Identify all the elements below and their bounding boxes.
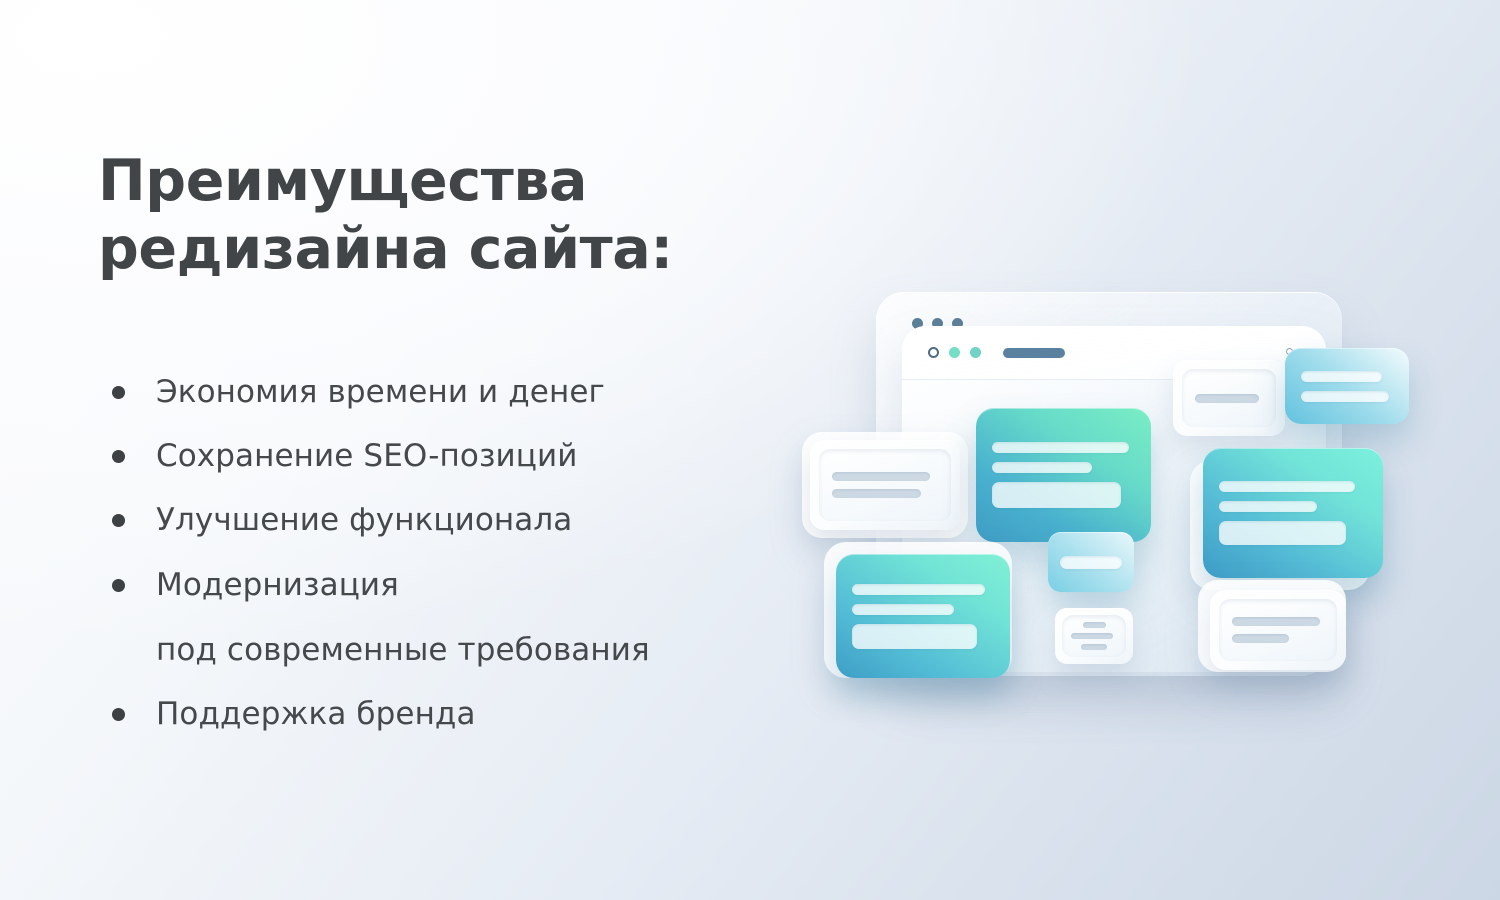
list-item-label: Экономия времени и денег — [156, 372, 605, 413]
card-bar — [992, 482, 1121, 508]
address-bar-pill — [1003, 348, 1065, 358]
headline-line-1: Преимущества — [98, 148, 798, 216]
card-top-white-body — [1182, 369, 1276, 427]
list-item: Сохранение SEO-позиций — [112, 436, 892, 477]
card-bottom-left-teal — [836, 554, 1010, 678]
card-main-teal — [976, 408, 1151, 542]
card-bar — [1081, 644, 1108, 650]
website-redesign-illustration — [790, 270, 1430, 700]
card-bottom-center-white-body — [1062, 615, 1126, 657]
card-bar — [1195, 394, 1259, 403]
list-item-label: Поддержка бренда — [156, 694, 476, 735]
card-bar — [1232, 634, 1289, 643]
card-bar — [1060, 556, 1122, 569]
card-bar — [852, 584, 985, 595]
mint-dot-icon — [949, 347, 960, 358]
circle-outline-icon — [928, 347, 939, 358]
card-bar — [1301, 391, 1389, 402]
list-item-label: Модернизация под современные требования — [156, 565, 650, 671]
bullet-dot-icon — [112, 708, 125, 721]
card-bar — [1219, 501, 1317, 512]
page-title: Преимущества редизайна сайта: — [98, 148, 798, 284]
card-bar — [1071, 633, 1113, 639]
list-item-label-line-1: Модернизация — [156, 567, 399, 603]
card-bottom-right-white — [1210, 590, 1346, 670]
card-bar — [1219, 481, 1355, 492]
card-center-blue-small — [1048, 532, 1134, 592]
card-bar — [832, 472, 930, 481]
card-bar — [832, 489, 921, 498]
bullet-dot-icon — [112, 386, 125, 399]
card-bar — [1301, 371, 1382, 382]
card-bar — [1232, 617, 1320, 626]
benefits-list: Экономия времени и денег Сохранение SEO-… — [112, 372, 892, 758]
card-top-right-blue — [1285, 348, 1409, 424]
card-bar — [992, 442, 1129, 453]
card-bar — [1219, 521, 1346, 545]
list-item: Экономия времени и денег — [112, 372, 892, 413]
card-bar — [992, 462, 1092, 473]
list-item-label: Улучшение функционала — [156, 500, 572, 541]
window-controls — [928, 347, 1065, 358]
list-item: Улучшение функционала — [112, 500, 892, 541]
card-bar — [1083, 622, 1106, 628]
teal-dot-icon — [970, 347, 981, 358]
bullet-dot-icon — [112, 579, 125, 592]
list-item-label-line-2: под современные требования — [156, 630, 650, 671]
card-right-teal — [1203, 448, 1383, 578]
list-item-label: Сохранение SEO-позиций — [156, 436, 578, 477]
list-item: Модернизация под современные требования — [112, 565, 892, 671]
card-left-white — [810, 440, 960, 530]
slide-content: Преимущества редизайна сайта: Экономия в… — [0, 0, 1500, 900]
card-bottom-center-white — [1055, 608, 1133, 664]
headline-line-2: редизайна сайта: — [98, 216, 798, 284]
card-bar — [852, 604, 954, 615]
bullet-dot-icon — [112, 450, 125, 463]
card-bottom-right-white-body — [1219, 599, 1337, 661]
bullet-dot-icon — [112, 514, 125, 527]
card-left-white-body — [819, 449, 951, 521]
list-item: Поддержка бренда — [112, 694, 892, 735]
card-top-white — [1173, 360, 1285, 436]
card-bar — [852, 624, 977, 649]
